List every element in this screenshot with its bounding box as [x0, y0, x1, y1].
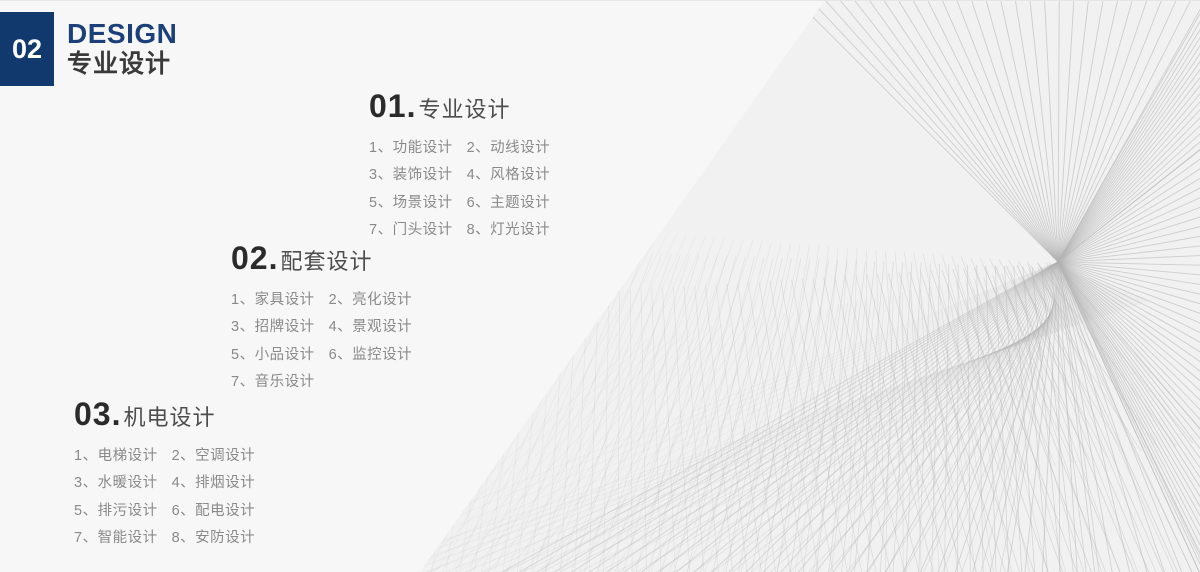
list-item: 1、电梯设计 — [74, 445, 158, 468]
list-item: 6、主题设计 — [467, 192, 551, 215]
slide-page: 02 DESIGN 专业设计 01. 专业设计 1、功能设计2、动线设计3、装饰… — [0, 0, 1200, 572]
block-name: 配套设计 — [280, 244, 372, 276]
block-number: 01. — [369, 88, 416, 125]
section-header: 02 DESIGN 专业设计 — [0, 12, 177, 86]
list-item: 7、智能设计 — [74, 527, 158, 550]
section-number-badge: 02 — [0, 12, 54, 86]
list-item: 8、灯光设计 — [467, 219, 551, 242]
list-item: 4、排烟设计 — [172, 472, 256, 495]
list-item: 6、监控设计 — [329, 344, 413, 367]
block-title: 02. 配套设计 — [231, 240, 412, 277]
block-name: 专业设计 — [418, 92, 510, 124]
list-item: 1、功能设计 — [369, 137, 453, 160]
block-item-list: 1、电梯设计2、空调设计3、水暖设计4、排烟设计5、排污设计6、配电设计7、智能… — [74, 445, 255, 551]
list-item: 3、水暖设计 — [74, 472, 158, 495]
list-item: 1、家具设计 — [231, 289, 315, 312]
list-item: 2、亮化设计 — [329, 289, 413, 312]
list-item: 2、动线设计 — [467, 137, 551, 160]
list-item: 8、安防设计 — [172, 527, 256, 550]
content-block-03: 03. 机电设计 1、电梯设计2、空调设计3、水暖设计4、排烟设计5、排污设计6… — [74, 396, 255, 551]
block-number: 03. — [74, 396, 121, 433]
list-item: 5、场景设计 — [369, 192, 453, 215]
block-item-list: 1、家具设计2、亮化设计3、招牌设计4、景观设计5、小品设计6、监控设计7、音乐… — [231, 289, 412, 395]
list-item: 3、装饰设计 — [369, 164, 453, 187]
header-title-cn: 专业设计 — [67, 50, 177, 78]
list-item: 4、风格设计 — [467, 164, 551, 187]
list-item: 7、音乐设计 — [231, 371, 315, 394]
block-title: 03. 机电设计 — [74, 396, 255, 433]
header-title-en: DESIGN — [67, 20, 177, 49]
top-divider-rule — [0, 0, 1200, 1]
content-block-01: 01. 专业设计 1、功能设计2、动线设计3、装饰设计4、风格设计5、场景设计6… — [369, 88, 550, 243]
header-titles: DESIGN 专业设计 — [67, 12, 177, 86]
block-number: 02. — [231, 240, 278, 277]
list-item: 2、空调设计 — [172, 445, 256, 468]
list-item: 3、招牌设计 — [231, 316, 315, 339]
content-block-02: 02. 配套设计 1、家具设计2、亮化设计3、招牌设计4、景观设计5、小品设计6… — [231, 240, 412, 395]
list-item: 5、排污设计 — [74, 500, 158, 523]
block-item-list: 1、功能设计2、动线设计3、装饰设计4、风格设计5、场景设计6、主题设计7、门头… — [369, 137, 550, 243]
block-title: 01. 专业设计 — [369, 88, 550, 125]
list-item: 6、配电设计 — [172, 500, 256, 523]
list-item: 5、小品设计 — [231, 344, 315, 367]
list-item: 4、景观设计 — [329, 316, 413, 339]
block-name: 机电设计 — [123, 400, 215, 432]
